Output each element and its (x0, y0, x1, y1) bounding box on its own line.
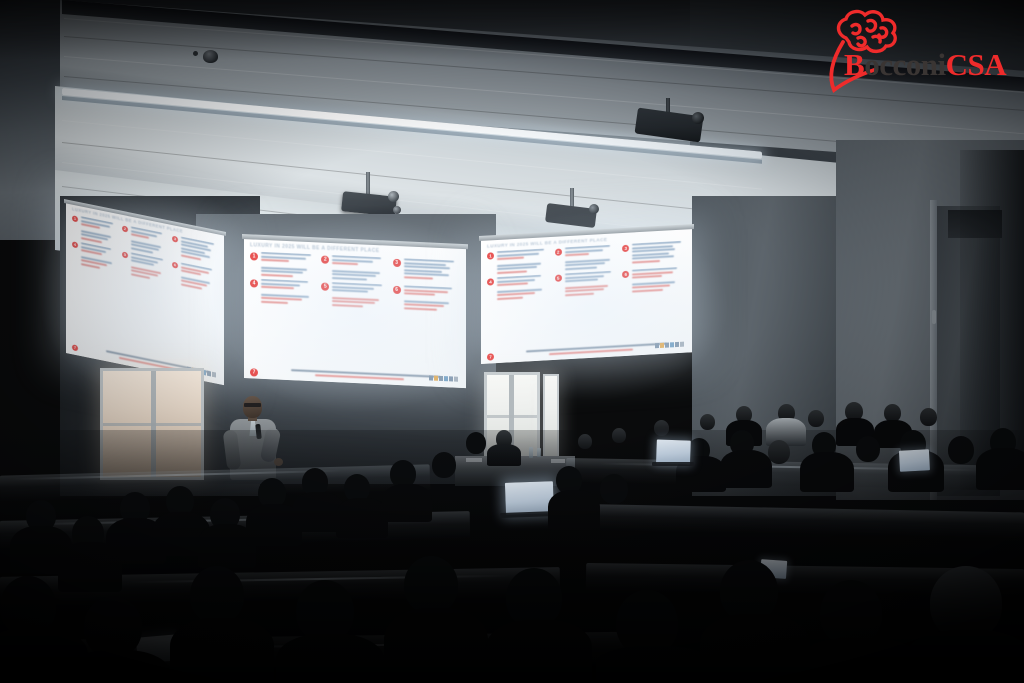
audience-body (976, 448, 1024, 490)
slide-cell: 3 (393, 258, 460, 286)
slide-bullet-number: 1 (250, 252, 258, 260)
slide-bullet-number: 7 (72, 344, 78, 351)
slide-bullet-number: 2 (122, 225, 128, 232)
slide-bullet-number: 1 (487, 252, 494, 259)
projector-lens-icon (388, 191, 399, 202)
audience-head-foreground (506, 568, 562, 628)
audience-head-foreground (404, 556, 458, 614)
slide-bullet-number: 5 (555, 274, 562, 281)
slide-right: LUXURY IN 2025 WILL BE A DIFFERENT PLACE… (481, 228, 692, 364)
slide-bullet-number: 5 (122, 251, 128, 258)
lecture-hall-photo: LUXURY IN 2025 WILL BE A DIFFERENT PLACE… (0, 0, 1024, 683)
audience-laptop[interactable] (505, 481, 554, 515)
slide-bullet-number: 4 (72, 241, 78, 248)
slide-cell: 6 (622, 267, 686, 295)
audience-head (466, 432, 486, 454)
audience-laptop[interactable] (899, 449, 930, 472)
slide-bullet-number: 6 (393, 286, 401, 294)
audience-head-foreground (0, 576, 56, 636)
slide-bullet-number: 3 (622, 245, 629, 252)
audience-head-foreground (190, 566, 244, 624)
audience-head-foreground (84, 596, 142, 658)
slide-bullet-number: 2 (555, 248, 562, 255)
projection-screen-right: LUXURY IN 2025 WILL BE A DIFFERENT PLACE… (481, 228, 692, 364)
slide-cell: 4 (487, 274, 551, 302)
slide-bullet-number: 6 (172, 262, 178, 269)
audience-body-foreground (62, 650, 172, 683)
audience-body (720, 450, 772, 488)
audience-body-foreground (908, 630, 1024, 683)
door-handle-icon[interactable] (932, 310, 936, 324)
audience-body-foreground (802, 638, 918, 683)
slide-body-grid: 1 2 3 4 5 6 (487, 241, 686, 302)
door-mullion (103, 423, 201, 426)
slide-bullet-number: 3 (393, 259, 401, 267)
audience-head (768, 440, 790, 464)
slide-bullet-number: 3 (172, 236, 178, 243)
audience-body-foreground (596, 646, 712, 683)
slide-cell: 1 (250, 251, 317, 279)
audience-head (948, 436, 974, 464)
projector-lens-icon (393, 206, 401, 214)
slide-cell: 5 (555, 270, 619, 298)
audience-head (432, 452, 456, 478)
audience-body-foreground (276, 634, 384, 683)
projector-lens-icon (692, 112, 704, 124)
slide-body-grid: 1 2 3 4 5 6 (250, 251, 460, 313)
slide-footer: 7 (487, 342, 686, 360)
speaker-head (243, 396, 262, 418)
slide-bullet-number: 7 (487, 353, 494, 360)
slide-bullet-number: 4 (487, 278, 494, 285)
audience-head (808, 410, 824, 427)
door-mullion (487, 415, 537, 418)
slide-bullet-number: 1 (72, 215, 78, 222)
ceiling-dome-camera-icon (203, 50, 218, 63)
audience-head (920, 408, 937, 426)
slide-center: LUXURY IN 2025 WILL BE A DIFFERENT PLACE… (244, 238, 466, 388)
audience-head-foreground (930, 566, 1002, 640)
audience-head-foreground (296, 580, 354, 642)
audience-head (654, 420, 669, 436)
audience-body (800, 452, 854, 492)
ceiling-projector-right (636, 98, 712, 146)
audience-body (382, 484, 432, 522)
slide-bullet-number: 6 (622, 271, 629, 278)
audience-head (856, 436, 880, 462)
audience-body (548, 490, 600, 530)
slide-cell: 4 (250, 278, 317, 306)
ceiling-projector-left (544, 188, 606, 232)
audience-head-foreground (820, 580, 882, 646)
slide-bullet-number: 2 (321, 256, 329, 264)
ceiling-projector-center (338, 172, 408, 220)
slide-cell: 5 (321, 282, 388, 310)
audience-laptop[interactable] (656, 439, 691, 464)
audience-body-foreground (700, 614, 810, 683)
slide-bullet-number: 5 (321, 283, 329, 291)
projector-lens-icon (589, 204, 599, 214)
audience-body-foreground (170, 618, 274, 683)
audience-head-foreground (720, 560, 778, 622)
audience-body-foreground (486, 620, 592, 683)
slide-cell: 2 (321, 255, 388, 283)
ceiling-sensor-icon (193, 51, 198, 56)
slide-cell: 1 (487, 248, 551, 276)
slide-bullet-number: 7 (250, 368, 258, 376)
audience-head (600, 474, 628, 504)
slide-bullet-number: 4 (250, 279, 258, 287)
audience-body (336, 498, 388, 538)
audience-head (700, 414, 715, 430)
projection-screen-center: LUXURY IN 2025 WILL BE A DIFFERENT PLACE… (244, 238, 466, 388)
slide-partner-logos (429, 375, 458, 381)
laptop-base (652, 462, 694, 466)
audience-head (612, 428, 626, 443)
projector-pole (366, 172, 370, 196)
slide-cell: 2 (555, 244, 619, 272)
slide-cell: 3 (622, 241, 686, 269)
eyeglasses-icon (244, 403, 261, 407)
audience-body-foreground (384, 608, 488, 683)
audience-head (578, 434, 592, 449)
slide-partner-logos (655, 342, 684, 349)
slide-cell: 6 (393, 285, 460, 313)
